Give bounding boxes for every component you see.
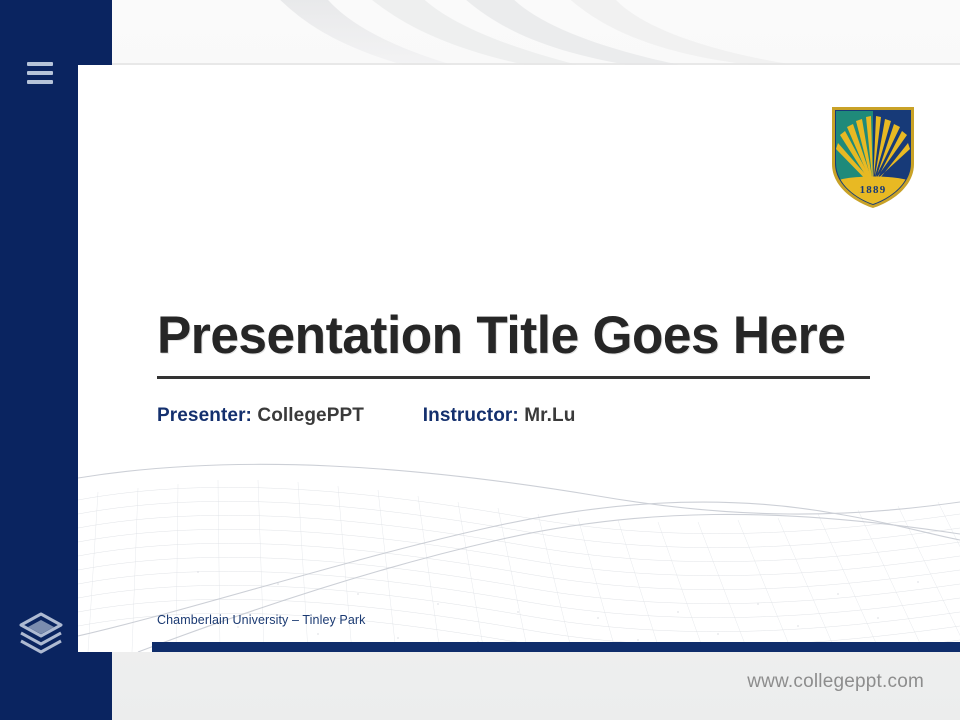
byline: Presenter: CollegePPT Instructor: Mr.Lu — [157, 405, 575, 427]
crest-year-text: 1889 — [860, 184, 887, 196]
instructor-label: Instructor: — [423, 405, 519, 426]
page-title: Presentation Title Goes Here — [157, 308, 851, 364]
instructor-value: Mr.Lu — [524, 405, 575, 426]
hamburger-icon[interactable] — [27, 62, 53, 84]
title-underline-rule — [157, 376, 870, 379]
screenshot-root: 1889 Presentation Title Goes Here Presen… — [0, 0, 960, 720]
layers-stack-icon[interactable] — [16, 608, 66, 658]
presenter-value: CollegePPT — [257, 405, 364, 426]
hamburger-bar — [27, 71, 53, 75]
slide-footer-text: Chamberlain University – Tinley Park — [157, 613, 366, 627]
slide-accent-bar — [152, 642, 960, 652]
university-crest-logo: 1889 — [830, 105, 916, 209]
sidebar-top-notch — [0, 0, 112, 65]
slide-canvas: 1889 Presentation Title Goes Here Presen… — [78, 65, 960, 652]
hamburger-bar — [27, 62, 53, 66]
watermark-url: www.collegeppt.com — [747, 671, 924, 693]
presenter-label: Presenter: — [157, 405, 252, 426]
hamburger-bar — [27, 80, 53, 84]
title-block: Presentation Title Goes Here — [157, 308, 872, 379]
